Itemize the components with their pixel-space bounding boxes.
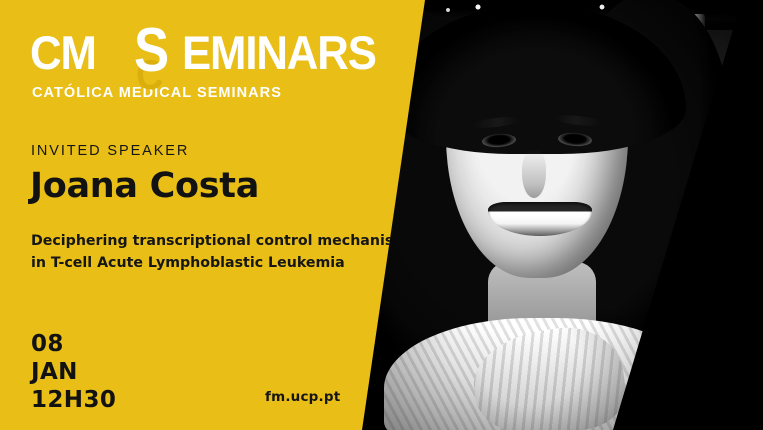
logo-eminars-text: EMINARS [182,28,376,78]
website-url: fm.ucp.pt [265,389,340,405]
talk-title-line-2: in T-cell Acute Lymphoblastic Leukemia [31,252,381,274]
logo-overlap-s-text: S [134,20,169,82]
event-day: 08 [31,330,116,358]
cmseminars-logo: CM C S EMINARS CATÓLICA MEDICAL SEMINARS [30,28,390,110]
yellow-info-panel: CM C S EMINARS CATÓLICA MEDICAL SEMINARS… [0,0,430,430]
logo-cm-text: CM [30,28,96,78]
event-date-time: 08 JAN 12H30 [31,330,116,414]
event-time: 12H30 [31,386,116,414]
seminar-poster: CM C S EMINARS CATÓLICA MEDICAL SEMINARS… [0,0,763,430]
logo-wordmark: CM C S EMINARS [30,28,390,78]
event-month: JAN [31,358,116,386]
invited-speaker-kicker: INVITED SPEAKER [31,143,189,159]
speaker-portrait-photo [362,0,763,430]
talk-title: Deciphering transcriptional control mech… [31,230,381,274]
speaker-name: Joana Costa [30,166,259,206]
talk-title-line-1: Deciphering transcriptional control mech… [31,230,381,252]
